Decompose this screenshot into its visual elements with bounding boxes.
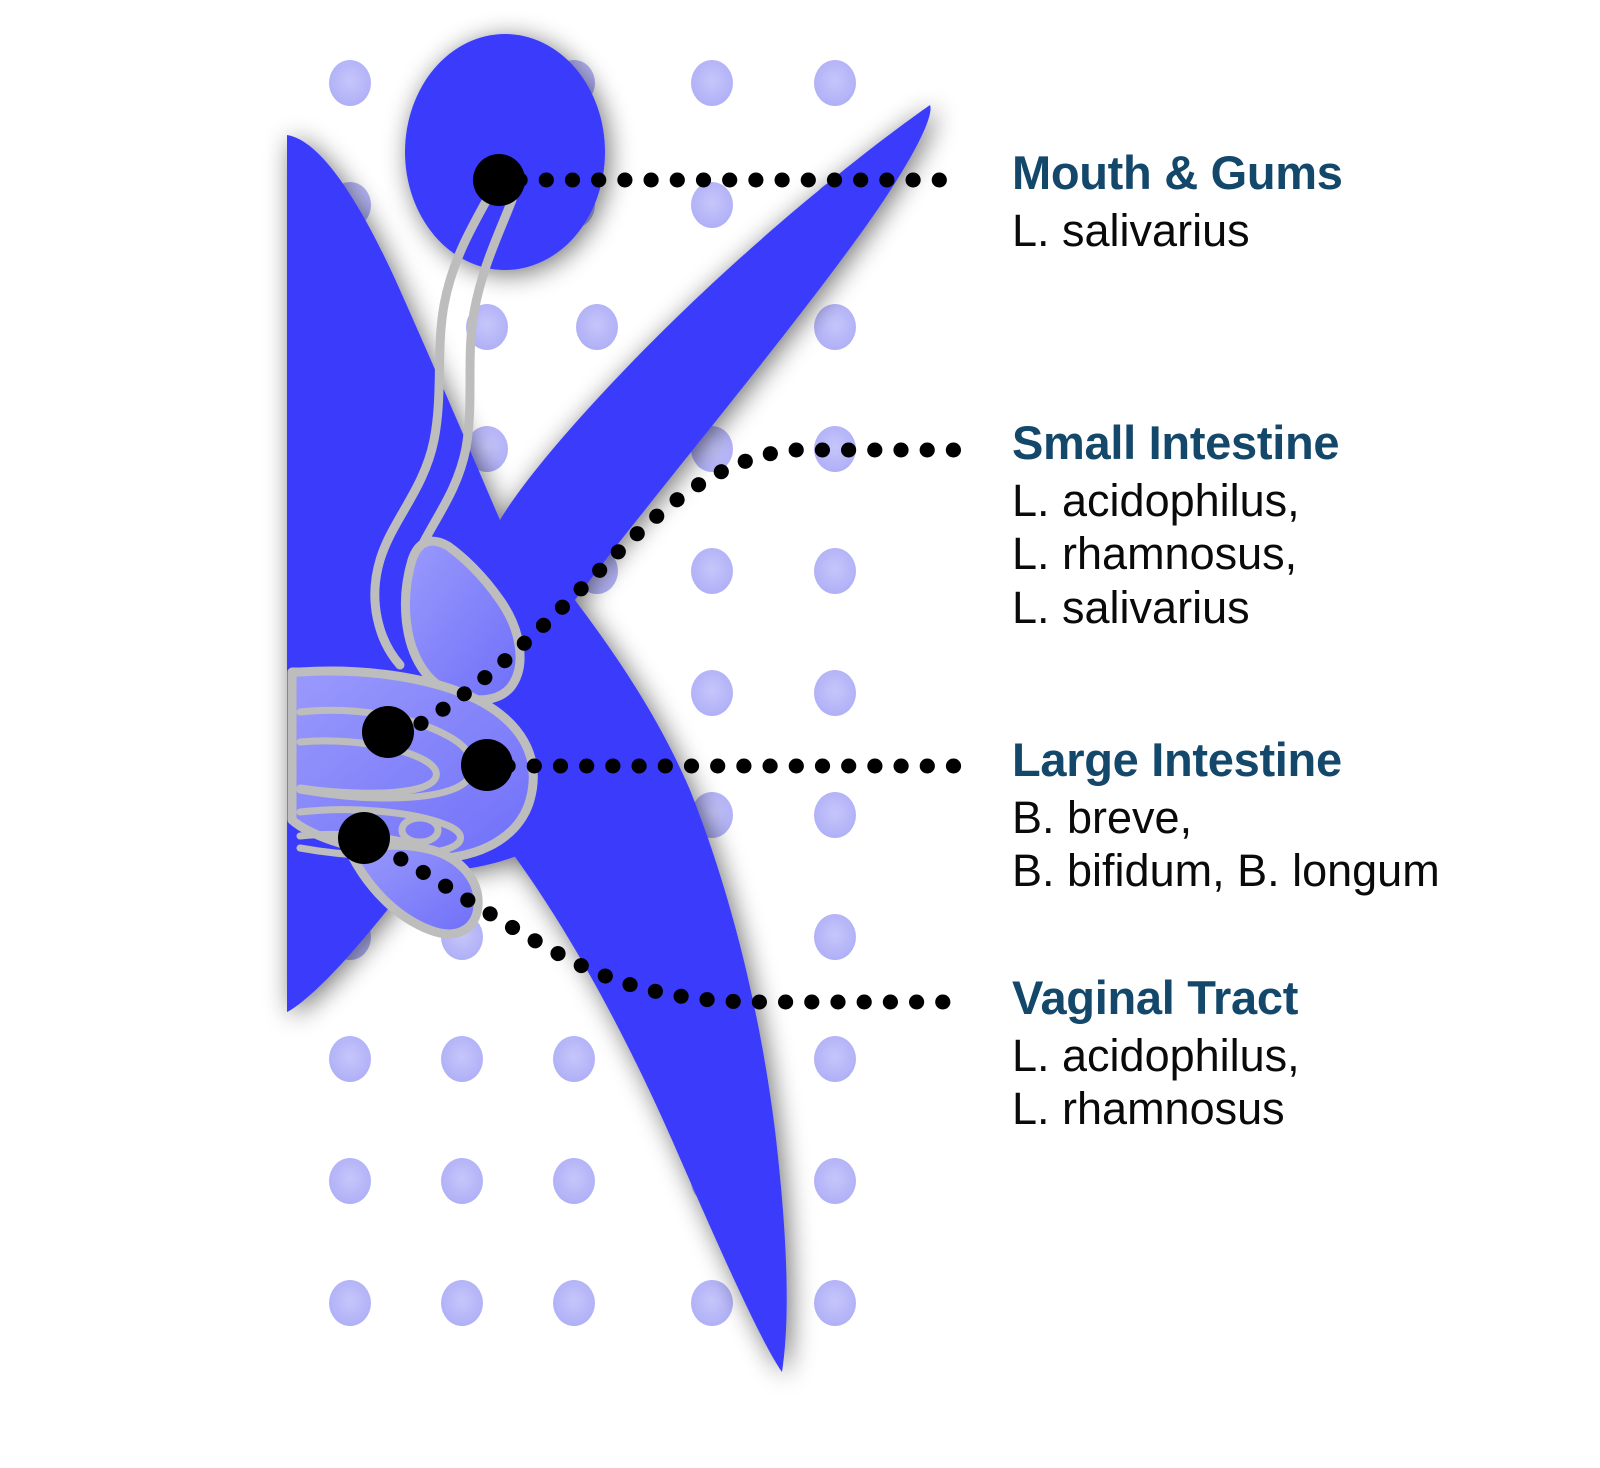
section-vaginal-tract: Vaginal Tract L. acidophilus, L. rhamnos…	[1012, 973, 1600, 1136]
organism-line: L. rhamnosus,	[1012, 527, 1600, 581]
label-column: Mouth & Gums L. salivarius Small Intesti…	[1012, 0, 1600, 1468]
section-heading-large-intestine: Large Intestine	[1012, 735, 1600, 785]
section-heading-mouth-gums: Mouth & Gums	[1012, 148, 1600, 198]
anchor-dot-large-intestine[interactable]	[461, 739, 513, 791]
organism-line: B. bifidum, B. longum	[1012, 844, 1600, 898]
section-small-intestine: Small Intestine L. acidophilus, L. rhamn…	[1012, 418, 1600, 634]
anchor-dot-vaginal-tract[interactable]	[338, 812, 390, 864]
diagram-canvas: Mouth & Gums L. salivarius Small Intesti…	[0, 0, 1600, 1468]
section-heading-vaginal-tract: Vaginal Tract	[1012, 973, 1600, 1023]
anchor-dot-mouth-gums[interactable]	[473, 154, 525, 206]
organism-line: B. breve,	[1012, 791, 1600, 845]
head-shape	[405, 34, 605, 270]
organism-line: L. rhamnosus	[1012, 1082, 1600, 1136]
anchor-dot-small-intestine[interactable]	[362, 706, 414, 758]
organism-line: L. salivarius	[1012, 204, 1600, 258]
organism-line: L. acidophilus,	[1012, 474, 1600, 528]
organism-line: L. acidophilus,	[1012, 1029, 1600, 1083]
section-large-intestine: Large Intestine B. breve, B. bifidum, B.…	[1012, 735, 1600, 898]
section-heading-small-intestine: Small Intestine	[1012, 418, 1600, 468]
organism-line: L. salivarius	[1012, 581, 1600, 635]
section-mouth-gums: Mouth & Gums L. salivarius	[1012, 148, 1600, 257]
